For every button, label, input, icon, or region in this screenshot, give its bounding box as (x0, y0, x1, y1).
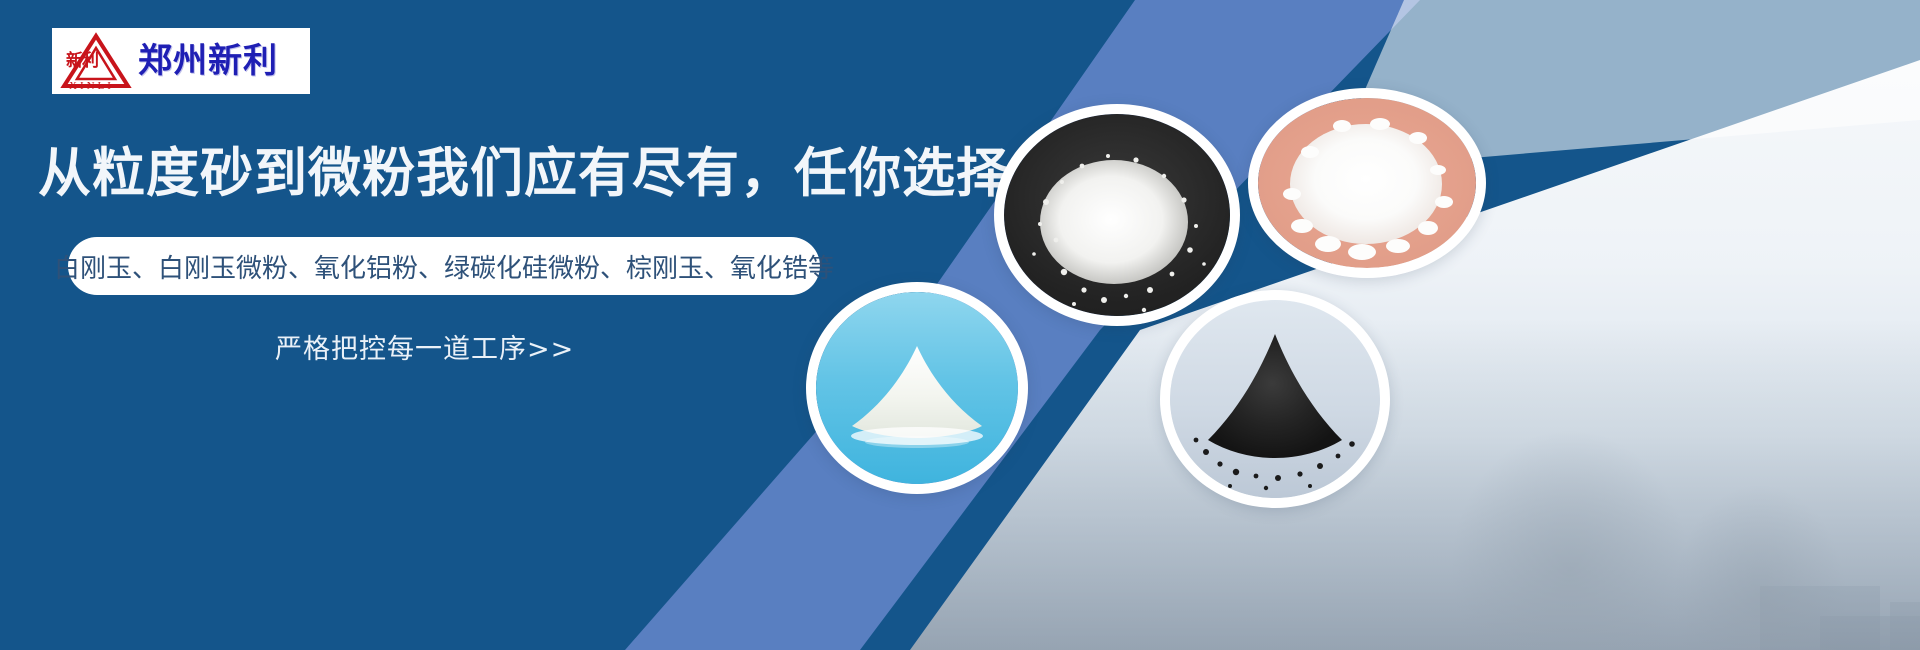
powder-cone-icon (816, 292, 1018, 484)
logo-triangle-mark: 新利 XINLI (60, 31, 132, 91)
black-grit-pile-icon (1170, 300, 1380, 498)
product-list-text: 白刚玉、白刚玉微粉、氧化铝粉、绿碳化硅微粉、棕刚玉、氧化锆等 (54, 248, 834, 285)
logo-latin-text: XINLI (69, 81, 114, 92)
product-photo-black-silicon-carbide-grit (1160, 290, 1390, 508)
product-photo-white-fused-alumina-grit (994, 104, 1240, 326)
logo-mark-text: 新利 (66, 53, 98, 70)
white-grit-pile-icon (1004, 114, 1230, 316)
logo-company-name: 郑州新利 (138, 44, 278, 78)
product-list-pill: 白刚玉、白刚玉微粉、氧化铝粉、绿碳化硅微粉、棕刚玉、氧化锆等 (68, 237, 820, 295)
cta-link[interactable]: 严格把控每一道工序>> (275, 327, 574, 366)
product-photo-white-alumina-micropowder (1248, 88, 1486, 278)
headline: 从粒度砂到微粉我们应有尽有，任你选择 (38, 146, 1010, 202)
white-powder-pile-icon (1258, 98, 1476, 268)
company-logo[interactable]: 新利 XINLI 郑州新利 (52, 28, 310, 94)
product-photo-white-powder-cone (806, 282, 1028, 494)
promo-banner: 新利 XINLI 郑州新利 从粒度砂到微粉我们应有尽有，任你选择 白刚玉、白刚玉… (0, 0, 1920, 650)
